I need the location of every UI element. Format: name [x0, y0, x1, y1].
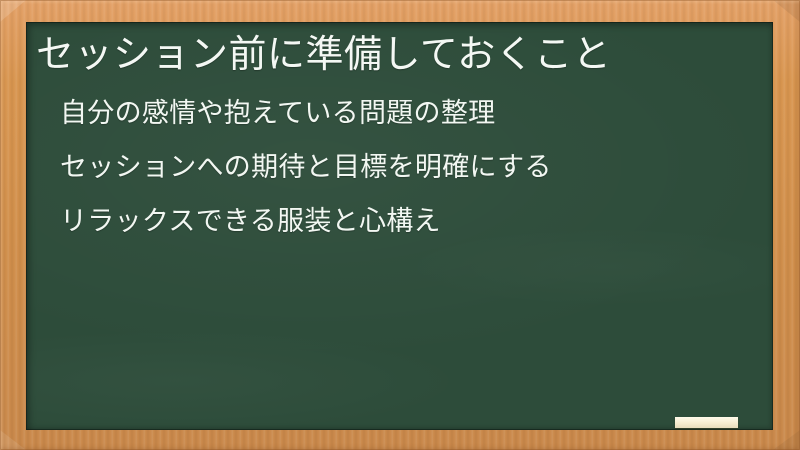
bullet-item-2: セッションへの期待と目標を明確にする [60, 154, 760, 181]
chalkboard-surface: セッション前に準備しておくこと 自分の感情や抱えている問題の整理 セッションへの… [26, 22, 773, 430]
frame-corner-top-left [0, 0, 26, 22]
slide-title: セッション前に準備しておくこと [36, 30, 756, 78]
bullet-item-1: 自分の感情や抱えている問題の整理 [60, 100, 760, 127]
frame-corner-bottom-left [0, 430, 26, 450]
chalk-stick-icon [675, 417, 738, 428]
chalkboard-slide: セッション前に準備しておくこと 自分の感情や抱えている問題の整理 セッションへの… [0, 0, 800, 450]
frame-corner-top-right [773, 0, 800, 22]
frame-corner-bottom-right [773, 430, 800, 450]
bullet-list: 自分の感情や抱えている問題の整理 セッションへの期待と目標を明確にする リラック… [60, 100, 760, 262]
bullet-item-3: リラックスできる服装と心構え [60, 208, 760, 235]
